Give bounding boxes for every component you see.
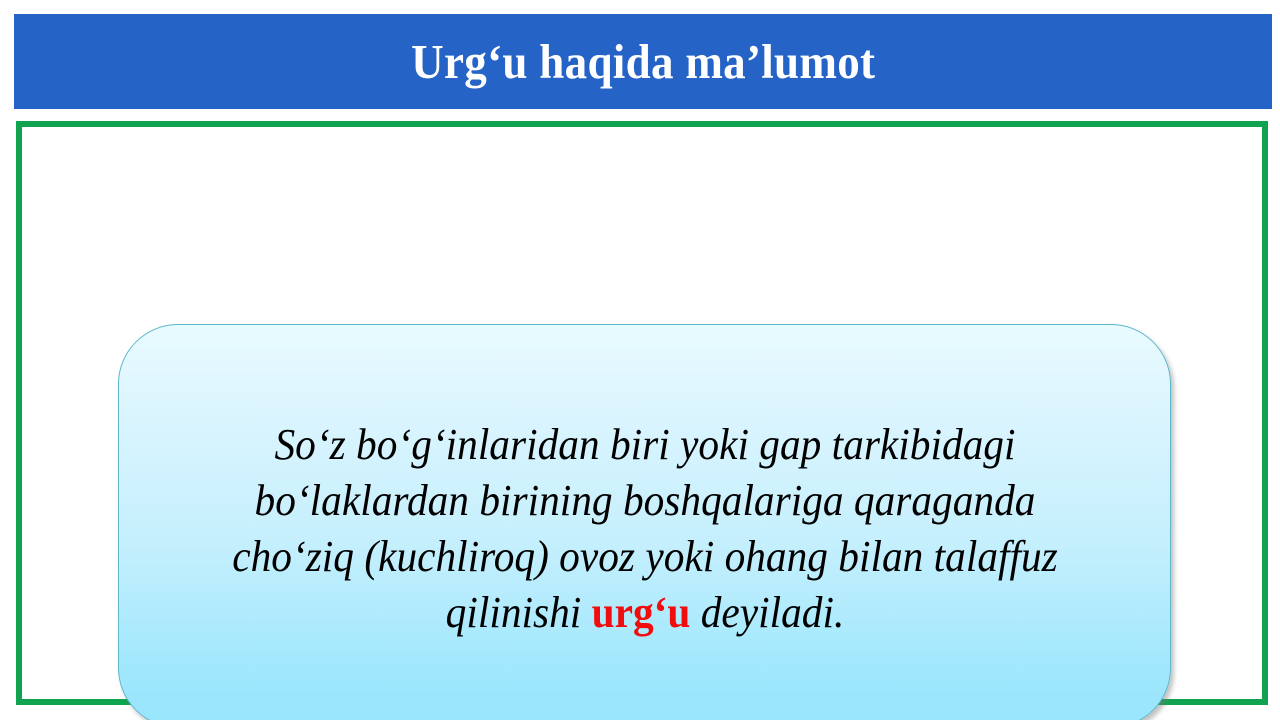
- definition-line-4-after: deyiladi.: [690, 588, 844, 637]
- slide-canvas: Urg‘u haqida ma’lumot So‘z bo‘g‘inlarida…: [0, 0, 1280, 720]
- definition-text: So‘z bo‘g‘inlaridan biri yoki gap tarkib…: [170, 417, 1119, 641]
- content-frame: So‘z bo‘g‘inlaridan biri yoki gap tarkib…: [16, 121, 1268, 705]
- page-title: Urg‘u haqida ma’lumot: [411, 37, 875, 86]
- highlighted-term: urg‘u: [591, 588, 690, 637]
- definition-callout-box: So‘z bo‘g‘inlaridan biri yoki gap tarkib…: [118, 324, 1171, 720]
- definition-line-1: So‘z bo‘g‘inlaridan biri yoki gap tarkib…: [170, 417, 1119, 473]
- definition-line-3: cho‘ziq (kuchliroq) ovoz yoki ohang bila…: [170, 529, 1119, 585]
- definition-line-4-before: qilinishi: [445, 588, 591, 637]
- definition-line-2: bo‘laklardan birining boshqalariga qarag…: [170, 473, 1119, 529]
- title-bar: Urg‘u haqida ma’lumot: [14, 14, 1272, 109]
- definition-line-4: qilinishi urg‘u deyiladi.: [170, 585, 1119, 641]
